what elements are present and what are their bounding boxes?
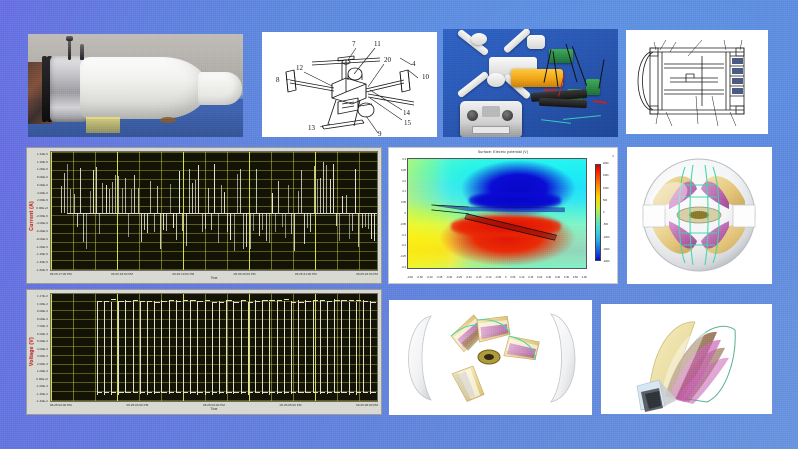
svg-text:13: 13 <box>308 124 316 132</box>
colorbar-tick-label: 500 <box>603 199 607 202</box>
rc-transmitter <box>460 101 522 137</box>
waveform-spike <box>86 213 87 249</box>
waveform-spike <box>291 213 292 233</box>
waveform-spike <box>90 191 91 213</box>
y-axis-label: Voltage (V) <box>29 337 35 366</box>
y-tick-label: 9.00E-3 <box>36 309 48 313</box>
y-tick-label: 2.00E-3 <box>36 362 48 366</box>
waveform-spike <box>112 182 113 214</box>
y-axis-label: Current (A) <box>29 201 35 231</box>
waveform-plateau-high <box>104 301 109 302</box>
sphere-render <box>627 147 772 284</box>
waveform-plateau-high <box>241 300 246 301</box>
waveform-plateau-high <box>313 300 318 301</box>
waveform-plateau-low <box>341 392 346 393</box>
waveform-pulse <box>262 301 263 394</box>
waveform-pulse <box>370 301 371 394</box>
waveform-spike <box>131 189 132 213</box>
waveform-spike <box>339 213 340 241</box>
waveform-plateau-low <box>169 392 174 393</box>
waveform-pulse <box>313 300 314 393</box>
waveform-spike <box>208 188 209 213</box>
x-tick-label: -0.20 <box>466 276 472 279</box>
payload-nose-cone <box>198 72 242 105</box>
y-tick-label: 1.00E-3 <box>36 369 48 373</box>
antenna-tip-icon <box>66 36 73 41</box>
waveform-pulse <box>248 302 249 395</box>
y-tick-label: 0.2 <box>402 180 406 183</box>
transmitter-switch-row <box>472 126 510 134</box>
waveform-spike <box>320 178 321 213</box>
y-tick-label: -1.30E-2 <box>36 392 48 396</box>
waveform-spike <box>166 213 167 231</box>
waveform-plateau-high <box>183 300 188 301</box>
svg-text:8: 8 <box>276 76 280 84</box>
plot-area[interactable] <box>50 293 378 402</box>
waveform-plateau-high <box>262 300 267 301</box>
waveform-plateau-low <box>298 392 303 393</box>
waveform-plateau-high <box>305 301 310 302</box>
patent-drawing-cross-section <box>626 30 768 134</box>
patent-drawing-quadcopter: 7 11 12 8 20 4 10 14 15 13 9 <box>262 32 437 137</box>
waveform-plateau-low <box>233 392 238 393</box>
x-tick-label: 0.20 <box>537 276 542 279</box>
waveform-plateau-high <box>147 301 152 302</box>
y-tick-label: -0.3 <box>402 266 406 269</box>
waveform-pulse <box>197 302 198 395</box>
x-tick-label: -0.15 <box>476 276 482 279</box>
waveform-spike <box>125 178 126 213</box>
cross-section-linework <box>626 30 768 134</box>
waveform-spike <box>128 213 129 237</box>
waveform-plateau-low <box>118 392 123 393</box>
waveform-pulse <box>205 302 206 395</box>
x-tick-label: 0 <box>505 276 506 279</box>
y-tick-label: -0.1 <box>402 234 406 237</box>
waveform-spike <box>163 213 164 229</box>
y-tick-label: -0.05 <box>400 223 406 226</box>
colorbar-tick-label: 1000 <box>603 187 609 190</box>
waveform-pulse <box>147 301 148 394</box>
x-tick-label: 0.45 <box>564 276 569 279</box>
x-tick-label: -0.35 <box>436 276 442 279</box>
waveform-plateau-high <box>212 302 217 303</box>
waveform-pulse <box>349 302 350 395</box>
waveform-pulse <box>169 301 170 394</box>
y-tick-label: -6.00E-6 <box>36 229 48 233</box>
waveform-spike <box>349 213 350 238</box>
grid-major <box>51 294 377 401</box>
waveform-pulse <box>298 300 299 393</box>
waveform-spike <box>77 213 78 226</box>
waveform-spike <box>74 194 75 213</box>
baseline-trace <box>67 213 377 214</box>
waveform-spike <box>109 189 110 213</box>
waveform-spike <box>93 170 94 213</box>
sensor-pod <box>527 35 545 49</box>
waveform-spike <box>352 213 353 230</box>
svg-text:15: 15 <box>404 119 412 127</box>
waveform-spike <box>218 213 219 243</box>
payload-support-stand <box>86 117 120 133</box>
transmitter-stick-left <box>467 110 478 121</box>
y-tick-label: 3.00E-3 <box>36 354 48 358</box>
svg-text:9: 9 <box>378 130 382 137</box>
waveform-spike <box>189 169 190 213</box>
waveform-spike <box>275 213 276 232</box>
waveform-plateau-high <box>277 300 282 301</box>
waveform-plateau-high <box>118 301 123 302</box>
y-tick-label: 0 <box>405 212 406 215</box>
contour-surface[interactable] <box>407 158 587 269</box>
waveform-plateau-high <box>197 301 202 302</box>
waveform-spike <box>259 213 260 236</box>
waveform-plateau-low <box>291 392 296 393</box>
waveform-pulse <box>284 301 285 394</box>
waveform-plateau-high <box>233 302 238 303</box>
waveform-plateau-low <box>269 392 274 393</box>
waveform-pulse <box>226 301 227 394</box>
y-tick-label: -4.00E-6 <box>36 221 48 225</box>
waveform-spike <box>170 184 171 214</box>
x-tick-label: -0.40 <box>427 276 433 279</box>
power-wire <box>543 89 557 91</box>
y-tick-label: -8.00E-6 <box>36 237 48 241</box>
waveform-plateau-low <box>125 392 130 393</box>
colorbar-tick-label: -500 <box>603 223 608 226</box>
waveform-spike <box>304 213 305 244</box>
waveform-plateau-low <box>111 392 116 393</box>
waveform-spike <box>240 169 241 213</box>
waveform-plateau-low <box>161 392 166 393</box>
waveform-spike <box>122 188 123 213</box>
waveform-spike <box>96 167 97 213</box>
waveform-pulse <box>277 301 278 394</box>
waveform-plateau-high <box>341 300 346 301</box>
waveform-spike <box>365 213 366 227</box>
colorbar-tick-label: -1000 <box>603 236 609 239</box>
waveform-plateau-low <box>248 392 253 393</box>
petal-render <box>601 304 772 414</box>
y-tick-label: 1.20E-5 <box>36 160 48 164</box>
waveform-pulse <box>233 301 234 394</box>
waveform-plateau-high <box>349 300 354 301</box>
waveform-spike <box>144 213 145 230</box>
colorbar-tick-label: -1500 <box>603 248 609 251</box>
waveform-plateau-low <box>226 392 231 393</box>
waveform-plateau-low <box>205 392 210 393</box>
waveform-pulse <box>320 301 321 394</box>
waveform-plateau-high <box>284 299 289 300</box>
waveform-spike <box>230 213 231 240</box>
waveform-spike <box>310 213 311 232</box>
waveform-plateau-high <box>205 300 210 301</box>
waveform-plateau-low <box>241 392 246 393</box>
waveform-spike <box>186 213 187 246</box>
waveform-plateau-high <box>219 302 224 303</box>
waveform-spike <box>138 188 139 214</box>
waveform-plateau-low <box>277 392 282 393</box>
waveform-spike <box>243 213 244 249</box>
waveform-spike <box>99 213 100 234</box>
waveform-plateau-low <box>313 392 318 393</box>
waveform-plateau-low <box>212 392 217 393</box>
waveform-plateau-high <box>133 300 138 301</box>
waveform-pulse <box>327 301 328 394</box>
waveform-plateau-low <box>197 392 202 393</box>
y-tick-label: 7.00E-3 <box>36 324 48 328</box>
y-tick-label: -0.2 <box>402 244 406 247</box>
waveform-pulse <box>111 302 112 395</box>
waveform-plateau-high <box>327 301 332 302</box>
waveform-spike <box>362 213 363 228</box>
waveform-pulse <box>176 300 177 393</box>
signal-wire <box>541 119 571 124</box>
waveform-spike <box>214 164 215 213</box>
waveform-plateau-low <box>147 392 152 393</box>
waveform-plateau-low <box>97 392 102 393</box>
waveform-plateau-high <box>161 301 166 302</box>
waveform-spike <box>150 181 151 213</box>
waveform-pulse <box>255 300 256 393</box>
colorbar-tick-label: 2000 <box>603 162 609 165</box>
waveform-plateau-high <box>140 301 145 302</box>
waveform-spike <box>157 186 158 213</box>
svg-text:10: 10 <box>422 73 430 81</box>
y-tick-label: -1.00E-3 <box>36 384 48 388</box>
waveform-spike <box>282 213 283 226</box>
y-tick-label: 8.00E-3 <box>36 317 48 321</box>
waveform-plateau-high <box>226 300 231 301</box>
waveform-spike <box>70 189 71 213</box>
waveform-spike <box>83 213 84 241</box>
waveform-plateau-high <box>298 302 303 303</box>
waveform-spike <box>285 213 286 238</box>
frame-arm <box>457 71 490 99</box>
y-tick-label: -1.60E-5 <box>36 268 48 272</box>
waveform-pulse <box>118 302 119 395</box>
waveform-plateau-high <box>111 299 116 300</box>
y-tick-label: -0.25 <box>400 255 406 258</box>
waveform-plateau-low <box>334 392 339 393</box>
x-tick-label: -0.30 <box>446 276 452 279</box>
waveform-plateau-high <box>356 300 361 301</box>
waveform-spike <box>317 179 318 214</box>
waveform-plateau-high <box>190 300 195 301</box>
waveform-pulse <box>212 302 213 395</box>
waveform-spike <box>227 213 228 232</box>
antenna-icon <box>68 38 71 60</box>
y-tick-label: -2.00E-6 <box>36 214 48 218</box>
svg-text:4: 4 <box>412 60 416 68</box>
waveform-spike <box>346 195 347 214</box>
colorbar-tick-label: -2000 <box>603 260 609 263</box>
waveform-spike <box>368 213 369 229</box>
y-tick-label: 0.00E+0 <box>36 206 48 210</box>
y-axis-ticks: 1.17E-21.00E-29.00E-38.00E-37.00E-36.00E… <box>36 293 50 411</box>
y-tick-label: 1.00E-2 <box>36 302 48 306</box>
electrode-geometry <box>408 159 586 269</box>
y-tick-label: 0.3 <box>402 158 406 161</box>
waveform-spike <box>307 213 308 228</box>
x-tick-label: 0.50 <box>573 276 578 279</box>
waveform-spike <box>61 186 62 214</box>
waveform-spike <box>80 168 81 213</box>
waveform-plateau-low <box>284 392 289 393</box>
y-tick-label: -1.40E-2 <box>36 399 48 403</box>
waveform-spike <box>115 175 116 213</box>
waveform-plateau-high <box>125 301 130 302</box>
waveform-spike <box>336 213 337 226</box>
waveform-spike <box>64 173 65 214</box>
waveform-spike <box>333 164 334 214</box>
waveform-spike <box>234 213 235 251</box>
x-tick-label: 0.30 <box>546 276 551 279</box>
waveform-plateau-high <box>176 301 181 302</box>
waveform-spike <box>253 213 254 230</box>
waveform-pulse <box>219 301 220 394</box>
waveform-pulse <box>341 300 342 393</box>
waveform-pulse <box>269 302 270 395</box>
antenna-icon <box>80 44 84 60</box>
waveform-spike <box>67 164 68 213</box>
waveform-spike <box>298 191 299 214</box>
waveform-plateau-high <box>291 302 296 303</box>
y-tick-label: 8.00E-6 <box>36 175 48 179</box>
waveform-plateau-high <box>269 300 274 301</box>
photo-payload-cylinder <box>28 34 243 137</box>
waveform-spike <box>323 162 324 214</box>
waveform-pulse <box>190 301 191 394</box>
waveform-spike <box>106 185 107 213</box>
waveform-spike <box>262 213 263 229</box>
y-tick-label: 4.00E-6 <box>36 191 48 195</box>
waveform-plateau-low <box>370 392 375 393</box>
waveform-spike <box>202 213 203 231</box>
waveform-spike <box>141 213 142 242</box>
y-tick-label: 0.05 <box>401 201 406 204</box>
svg-text:7: 7 <box>352 40 356 48</box>
y-axis-ticks: 0.30.250.20.10.050-0.05-0.1-0.2-0.25-0.3 <box>391 158 406 269</box>
y-tick-label: 2.00E-6 <box>36 198 48 202</box>
waveform-spike <box>256 169 257 213</box>
quadcopter-linework: 7 11 12 8 20 4 10 14 15 13 9 <box>262 32 437 137</box>
waveform-spike <box>342 196 343 213</box>
y-tick-label: -1.00E-5 <box>36 245 48 249</box>
waveform-plateau-high <box>248 302 253 303</box>
waveform-spike <box>266 213 267 241</box>
waveform-spike <box>237 174 238 214</box>
x-tick-label: 0.10 <box>519 276 524 279</box>
waveform-pulse <box>161 300 162 393</box>
motor-mount <box>471 33 487 45</box>
colorbar-tick-label: 0 <box>603 211 604 214</box>
waveform-spike <box>102 183 103 213</box>
transmitter-display <box>482 106 500 117</box>
waveform-plateau-high <box>363 301 368 302</box>
waveform-pulse <box>104 302 105 395</box>
x-tick-label: -0.05 <box>495 276 501 279</box>
x-tick-label: -0.50 <box>417 276 423 279</box>
waveform-pulse <box>125 300 126 393</box>
waveform-pulse <box>305 300 306 393</box>
waveform-plateau-low <box>190 392 195 393</box>
waveform-spike <box>358 213 359 247</box>
colorbar-unit-label: V <box>612 155 614 158</box>
wire <box>572 46 587 86</box>
waveform-spike <box>278 181 279 213</box>
waveform-plateau-low <box>356 392 361 393</box>
y-tick-label: 6.00E-6 <box>36 183 48 187</box>
waveform-plateau-low <box>349 392 354 393</box>
y-tick-label: -1.40E-5 <box>36 260 48 264</box>
waveform-spike <box>221 185 222 214</box>
waveform-spike <box>160 213 161 248</box>
chart-current-waveform[interactable]: Current (A) 1.42E-51.20E-51.00E-58.00E-6… <box>26 147 382 284</box>
x-tick-label: 0.15 <box>528 276 533 279</box>
waveform-spike <box>198 165 199 214</box>
carbon-frame-plate <box>539 98 587 109</box>
waveform-plateau-low <box>262 392 267 393</box>
payload-white-body <box>80 57 208 119</box>
x-tick-label: 0.05 <box>510 276 515 279</box>
waveform-spike <box>250 213 251 249</box>
x-axis-ticks: -0.60-0.50-0.40-0.35-0.30-0.25-0.20-0.15… <box>407 276 587 279</box>
chart-voltage-waveform[interactable]: Voltage (V) 1.17E-21.00E-29.00E-38.00E-3… <box>26 289 382 415</box>
waveform-spike <box>173 213 174 227</box>
waveform-spike <box>192 183 193 214</box>
svg-text:11: 11 <box>374 40 381 48</box>
waveform-plateau-low <box>176 392 181 393</box>
svg-text:12: 12 <box>296 64 304 72</box>
plot-area[interactable] <box>50 151 378 271</box>
waveform-spike <box>195 180 196 213</box>
waveform-plateau-low <box>133 392 138 393</box>
x-tick-label: 0.60 <box>582 276 587 279</box>
x-tick-label: 0.40 <box>555 276 560 279</box>
waveform-plateau-low <box>327 392 332 393</box>
waveform-spike <box>176 213 177 240</box>
chart-fem-contour[interactable]: Surface: Electric potential (V) 0.30.250… <box>388 147 618 284</box>
y-tick-label: 4.00E-3 <box>36 347 48 351</box>
waveform-spike <box>179 171 180 213</box>
waveform-spike <box>118 176 119 214</box>
waveform-spike <box>205 213 206 228</box>
waveform-spike <box>224 192 225 213</box>
x-axis-label: Time <box>50 407 378 411</box>
waveform-spike <box>211 213 212 230</box>
y-tick-label: 0.1 <box>402 190 406 193</box>
slide-canvas: 7 11 12 8 20 4 10 14 15 13 9 <box>0 0 798 449</box>
waveform-plateau-high <box>370 302 375 303</box>
colorbar-ticks: 2000150010005000-500-1000-1500-2000 <box>602 162 615 263</box>
svg-text:20: 20 <box>384 56 392 64</box>
y-tick-label: 1.00E-5 <box>36 167 48 171</box>
waveform-pulse <box>97 302 98 395</box>
waveform-plateau-low <box>305 392 310 393</box>
waveform-pulse <box>241 301 242 394</box>
transmitter-stick-right <box>502 110 513 121</box>
y-axis-ticks: 1.42E-51.20E-51.00E-58.00E-66.00E-64.00E… <box>36 151 50 280</box>
waveform-spike <box>269 213 270 242</box>
waveform-plateau-high <box>97 301 102 302</box>
signal-wire <box>563 115 601 120</box>
y-tick-label: 0.25 <box>401 169 406 172</box>
waveform-plateau-high <box>154 302 159 303</box>
cad-exploded-view <box>389 300 592 415</box>
y-tick-label: 5.00E-3 <box>36 339 48 343</box>
waveform-spike <box>314 166 315 213</box>
